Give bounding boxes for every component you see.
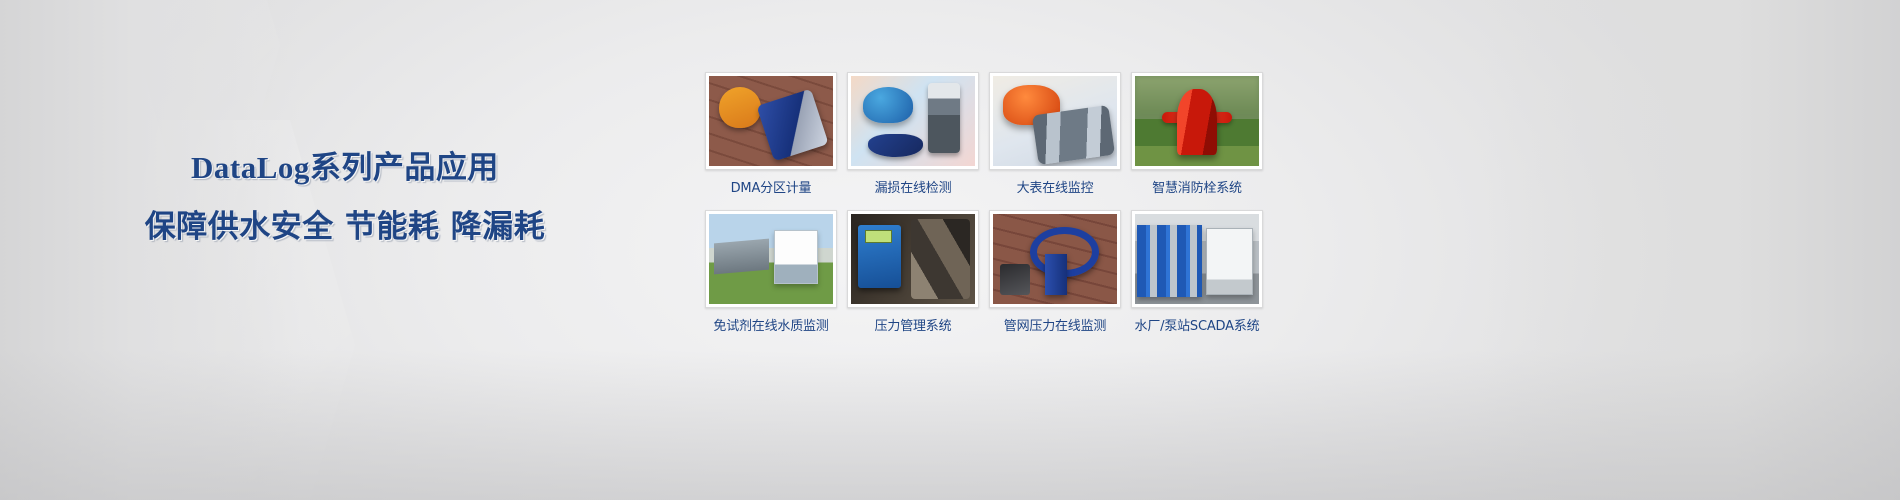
hydrant-outlet-arms	[1162, 112, 1231, 123]
product-caption: 大表在线监控	[989, 177, 1121, 196]
product-card-dma-zone-metering[interactable]: DMA分区计量	[705, 72, 837, 196]
product-thumbnail-frame[interactable]	[1131, 72, 1263, 170]
signboard-text-lines	[780, 237, 815, 241]
product-thumbnail-frame[interactable]	[989, 72, 1121, 170]
product-caption: 水厂/泵站SCADA系统	[1131, 315, 1263, 334]
product-thumbnail-frame[interactable]	[989, 210, 1121, 308]
product-thumbnail-frame[interactable]	[1131, 210, 1263, 308]
dma-zone-metering-photo	[709, 76, 833, 166]
leak-logger-device	[868, 134, 923, 157]
product-caption: 免试剂在线水质监测	[705, 315, 837, 334]
product-thumbnail-frame[interactable]	[847, 72, 979, 170]
leakage-online-detection-photo	[851, 76, 975, 166]
waterworks-pump-scada-photo	[1135, 214, 1259, 304]
product-caption: 智慧消防栓系统	[1131, 177, 1263, 196]
product-thumbnail-frame[interactable]	[847, 210, 979, 308]
product-caption: 漏损在线检测	[847, 177, 979, 196]
scada-cabinet-label	[1213, 236, 1248, 250]
headline-line-primary: DataLog系列产品应用	[0, 150, 690, 187]
product-card-waterworks-pump-scada[interactable]: 水厂/泵站SCADA系统	[1131, 210, 1263, 334]
large-meter-monitoring-photo	[993, 76, 1117, 166]
background-shade-right	[1480, 0, 1900, 500]
product-card-smart-hydrant-system[interactable]: 智慧消防栓系统	[1131, 72, 1263, 196]
smart-hydrant-system-photo	[1135, 76, 1259, 166]
headline-line-secondary: 保障供水安全 节能耗 降漏耗	[0, 209, 690, 246]
product-application-banner: DataLog系列产品应用 保障供水安全 节能耗 降漏耗 DMA分区计量 漏损在…	[0, 0, 1900, 500]
pressure-logger-box	[1000, 264, 1030, 295]
reagent-free-water-quality-photo	[709, 214, 833, 304]
product-thumbnail-frame[interactable]	[705, 210, 837, 308]
pressure-management-system-photo	[851, 214, 975, 304]
background-shade-left	[0, 0, 300, 500]
product-card-leakage-online-detection[interactable]: 漏损在线检测	[847, 72, 979, 196]
product-application-grid: DMA分区计量 漏损在线检测 大表在线监控 智慧消防栓系统	[705, 72, 1285, 334]
product-card-pipeline-pressure-monitoring[interactable]: 管网压力在线监测	[989, 210, 1121, 334]
product-card-pressure-management-system[interactable]: 压力管理系统	[847, 210, 979, 334]
product-thumbnail-frame[interactable]	[705, 72, 837, 170]
product-caption: 管网压力在线监测	[989, 315, 1121, 334]
product-card-large-meter-monitoring[interactable]: 大表在线监控	[989, 72, 1121, 196]
background-shade-bottom	[0, 350, 1900, 500]
controller-display-panel	[865, 230, 892, 243]
product-caption: DMA分区计量	[705, 177, 837, 196]
banner-headline: DataLog系列产品应用 保障供水安全 节能耗 降漏耗	[0, 150, 690, 245]
product-card-water-quality-monitoring[interactable]: 免试剂在线水质监测	[705, 210, 837, 334]
pipeline-pressure-monitoring-photo	[993, 214, 1117, 304]
product-caption: 压力管理系统	[847, 315, 979, 334]
